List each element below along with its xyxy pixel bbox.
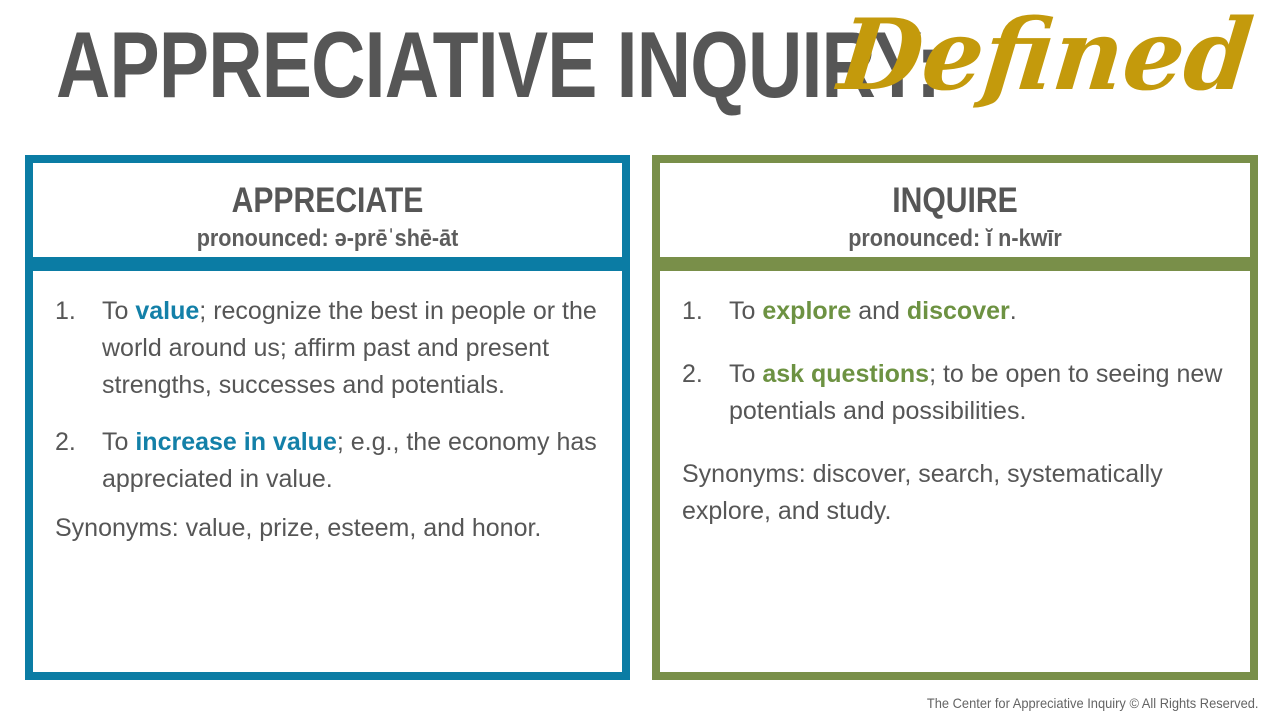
definition-item: 2.To increase in value; e.g., the econom…	[47, 424, 608, 498]
page-title-bar: APPRECIATIVE INQUIRY: Defined	[0, 0, 1280, 145]
card-header-inquire: INQUIRE pronounced: ĭ n-kwīr	[652, 155, 1258, 265]
definition-text-mid: and	[851, 297, 907, 325]
copyright-footer: The Center for Appreciative Inquiry © Al…	[926, 694, 1258, 712]
definition-item: 1.To value; recognize the best in people…	[47, 293, 608, 404]
card-header-appreciate: APPRECIATE pronounced: ə-prēˈshē-āt	[25, 155, 630, 265]
definition-text-pre: To	[729, 297, 762, 325]
definition-highlight: increase in value	[135, 428, 337, 456]
definition-item: 1.To explore and discover.	[674, 293, 1236, 330]
definition-marker: 1.	[682, 293, 722, 330]
card-body-inquire: 1.To explore and discover. 2.To ask ques…	[652, 263, 1258, 680]
word-title-inquire: INQUIRE	[701, 181, 1208, 221]
definition-highlight: value	[135, 297, 199, 325]
definition-text-post: .	[1010, 297, 1017, 325]
word-title-appreciate: APPRECIATE	[74, 181, 581, 221]
synonyms-inquire: Synonyms: discover, search, systematical…	[674, 456, 1236, 530]
definition-highlight-secondary: discover	[907, 297, 1010, 325]
definition-text-pre: To	[102, 297, 135, 325]
definition-item: 2.To ask questions; to be open to seeing…	[674, 356, 1236, 430]
definition-marker: 2.	[55, 424, 95, 461]
definition-marker: 1.	[55, 293, 95, 330]
word-pronunciation-inquire: pronounced: ĭ n-kwīr	[690, 225, 1221, 253]
definition-list-appreciate: 1.To value; recognize the best in people…	[47, 293, 608, 498]
definition-highlight: explore	[762, 297, 851, 325]
card-body-appreciate: 1.To value; recognize the best in people…	[25, 263, 630, 680]
definition-marker: 2.	[682, 356, 722, 393]
definition-list-inquire: 1.To explore and discover. 2.To ask ques…	[674, 293, 1236, 430]
word-pronunciation-appreciate: pronounced: ə-prēˈshē-āt	[62, 225, 592, 253]
page-title-main: APPRECIATIVE INQUIRY:	[56, 18, 940, 112]
synonyms-appreciate: Synonyms: value, prize, esteem, and hono…	[47, 510, 608, 547]
definition-text-pre: To	[729, 360, 762, 388]
page-title-script-accent: Defined	[834, 4, 1257, 108]
definition-highlight: ask questions	[762, 360, 929, 388]
definition-text-pre: To	[102, 428, 135, 456]
